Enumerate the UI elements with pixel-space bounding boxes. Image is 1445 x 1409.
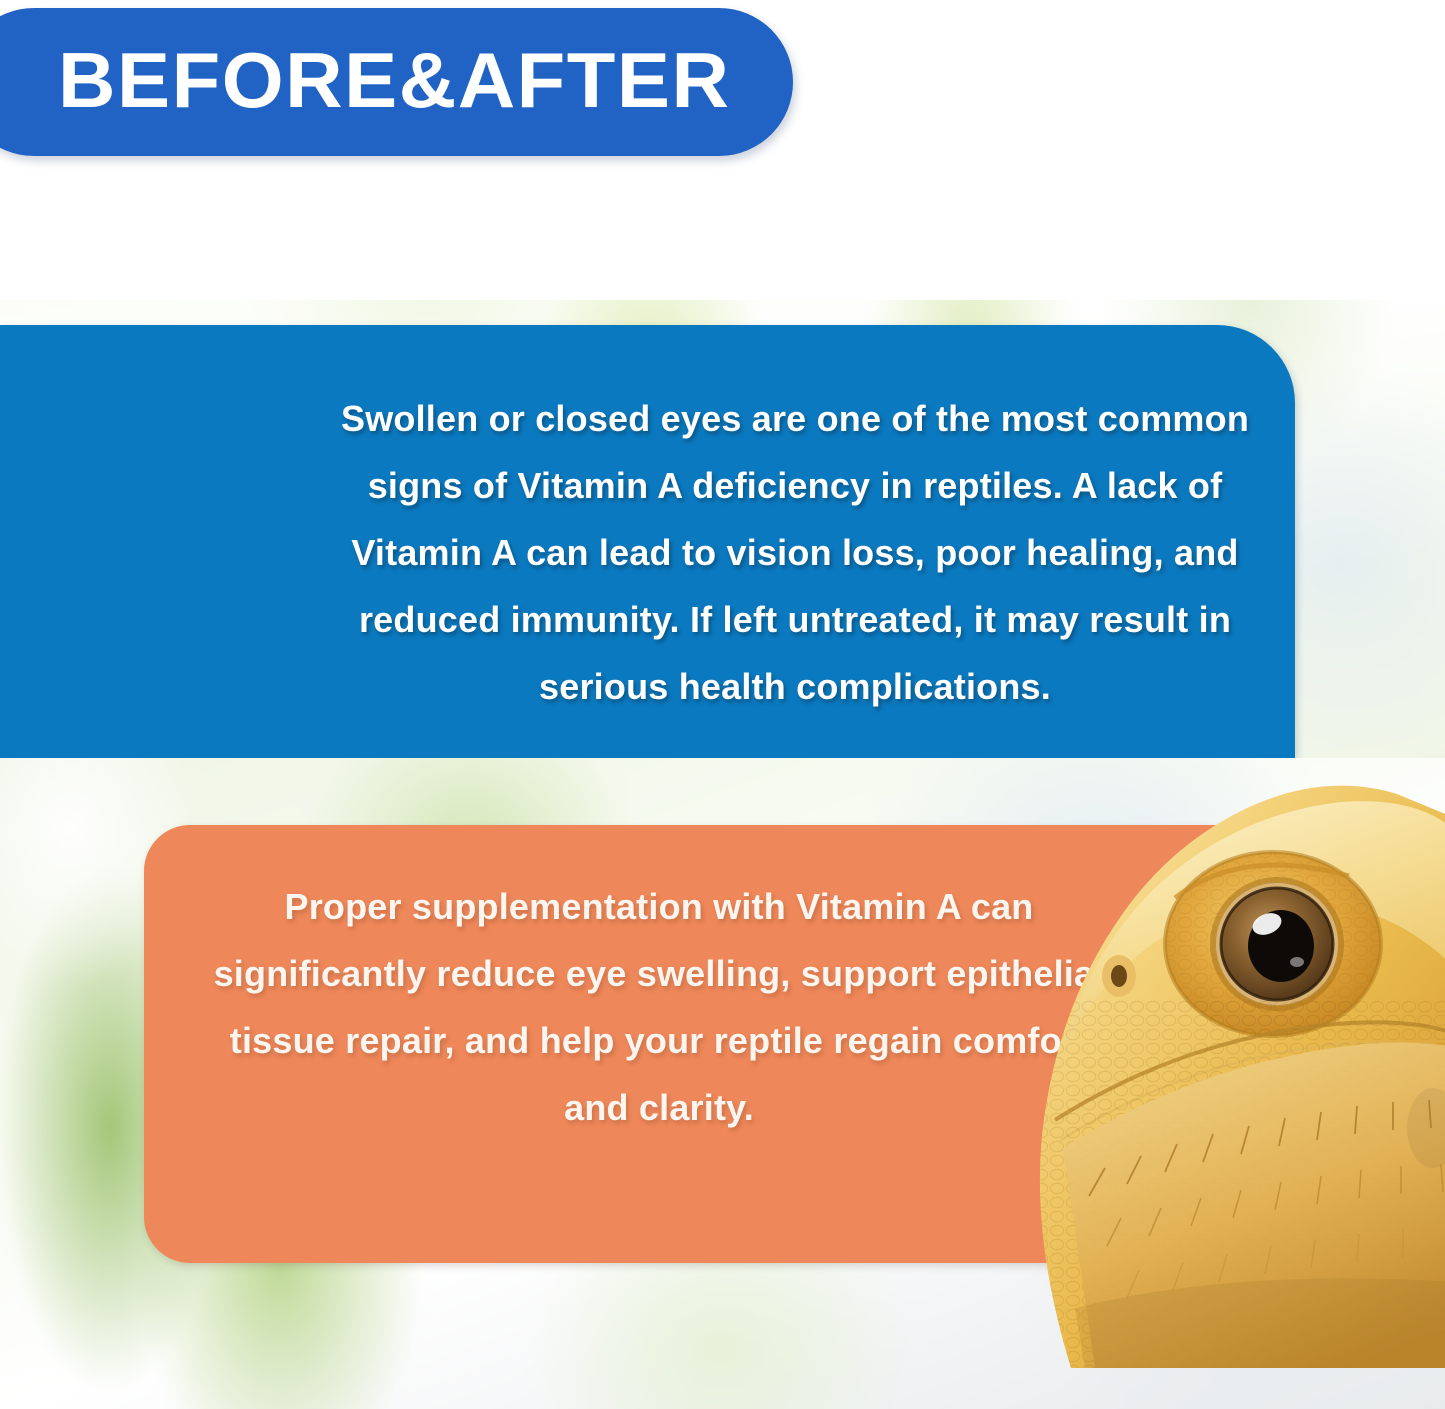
after-lizard-photo: [985, 758, 1445, 1368]
header-band: BEFORE&AFTER: [0, 0, 1445, 300]
before-after-infographic: BEFORE&AFTER: [0, 0, 1445, 1409]
after-photo-band: Proper supplementation with Vitamin A ca…: [0, 758, 1445, 1409]
before-body-text: Swollen or closed eyes are one of the mo…: [330, 385, 1260, 720]
before-photo-band: Swollen or closed eyes are one of the mo…: [0, 300, 1445, 758]
page-title: BEFORE&AFTER: [58, 24, 792, 136]
before-text-panel: Swollen or closed eyes are one of the mo…: [0, 325, 1295, 758]
